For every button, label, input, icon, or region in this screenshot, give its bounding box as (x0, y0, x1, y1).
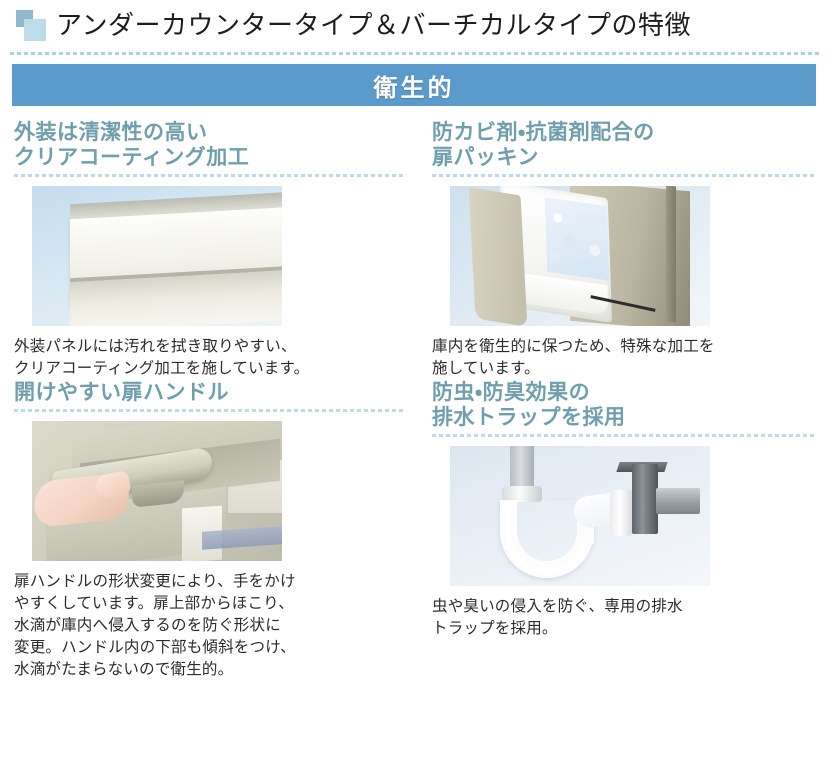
mounting-bracket (632, 464, 658, 534)
gasket-insulation (545, 197, 610, 280)
feature-title-divider (14, 174, 406, 177)
feature-card-door-handle: 開けやすい扉ハンドル 扉ハンドルの形状変更により、手をかけ やすくしています。扉… (0, 380, 420, 681)
square-light (24, 19, 46, 41)
feature-title-divider (432, 174, 814, 177)
photo-frame (450, 446, 710, 586)
double-square-icon (14, 9, 48, 43)
feature-title: 外装は清潔性の高い クリアコーティング加工 (14, 120, 406, 170)
feature-title-divider (432, 434, 814, 437)
feature-grid: 外装は清潔性の高い クリアコーティング加工 外装パネルには汚れを拭き取りやすい、… (0, 120, 828, 681)
door-packing-photo (432, 186, 814, 326)
page-title: アンダーカウンタータイプ＆バーチカルタイプの特徴 (56, 11, 691, 41)
cabinet-edge (666, 186, 676, 323)
door-handle-photo (14, 421, 406, 561)
feature-title: 防カビ剤・抗菌剤配合の 扉パッキン (432, 120, 814, 170)
section-banner: 衛生的 (12, 64, 816, 106)
trap-union-nut (610, 490, 634, 536)
feature-caption: 外装パネルには汚れを拭き取りやすい、 クリアコーティング加工を施しています。 (14, 336, 406, 380)
page-header: アンダーカウンタータイプ＆バーチカルタイプの特徴 (0, 0, 828, 52)
exterior-panel-photo (14, 186, 406, 326)
feature-card-door-packing: 防カビ剤・抗菌剤配合の 扉パッキン 庫内を衛生的に保つため、特殊な加工を 施して… (420, 120, 828, 380)
feature-caption: 虫や臭いの侵入を防ぐ、専用の排水 トラップを採用。 (432, 596, 814, 640)
feature-card-exterior-coating: 外装は清潔性の高い クリアコーティング加工 外装パネルには汚れを拭き取りやすい、… (0, 120, 420, 380)
drain-trap-photo (432, 446, 814, 586)
feature-title: 開けやすい扉ハンドル (14, 380, 406, 405)
feature-caption: 庫内を衛生的に保つため、特殊な加工を 施しています。 (432, 336, 814, 380)
feature-caption: 扉ハンドルの形状変更により、手をかけ やすくしています。扉上部からほこり、 水滴… (14, 571, 406, 681)
section-banner-label: 衛生的 (374, 68, 455, 103)
feature-card-drain-trap: 防虫・防臭効果の 排水トラップを採用 虫や臭いの侵入を防ぐ、専用の排水 トラップ… (420, 380, 828, 681)
header-divider (10, 52, 820, 55)
feature-title-divider (14, 409, 406, 412)
door-outer-panel (469, 187, 528, 326)
feature-title: 防虫・防臭効果の 排水トラップを採用 (432, 380, 814, 430)
photo-frame (450, 186, 710, 326)
photo-frame (32, 421, 282, 561)
outlet-pipe (656, 488, 700, 514)
photo-frame (32, 186, 282, 326)
